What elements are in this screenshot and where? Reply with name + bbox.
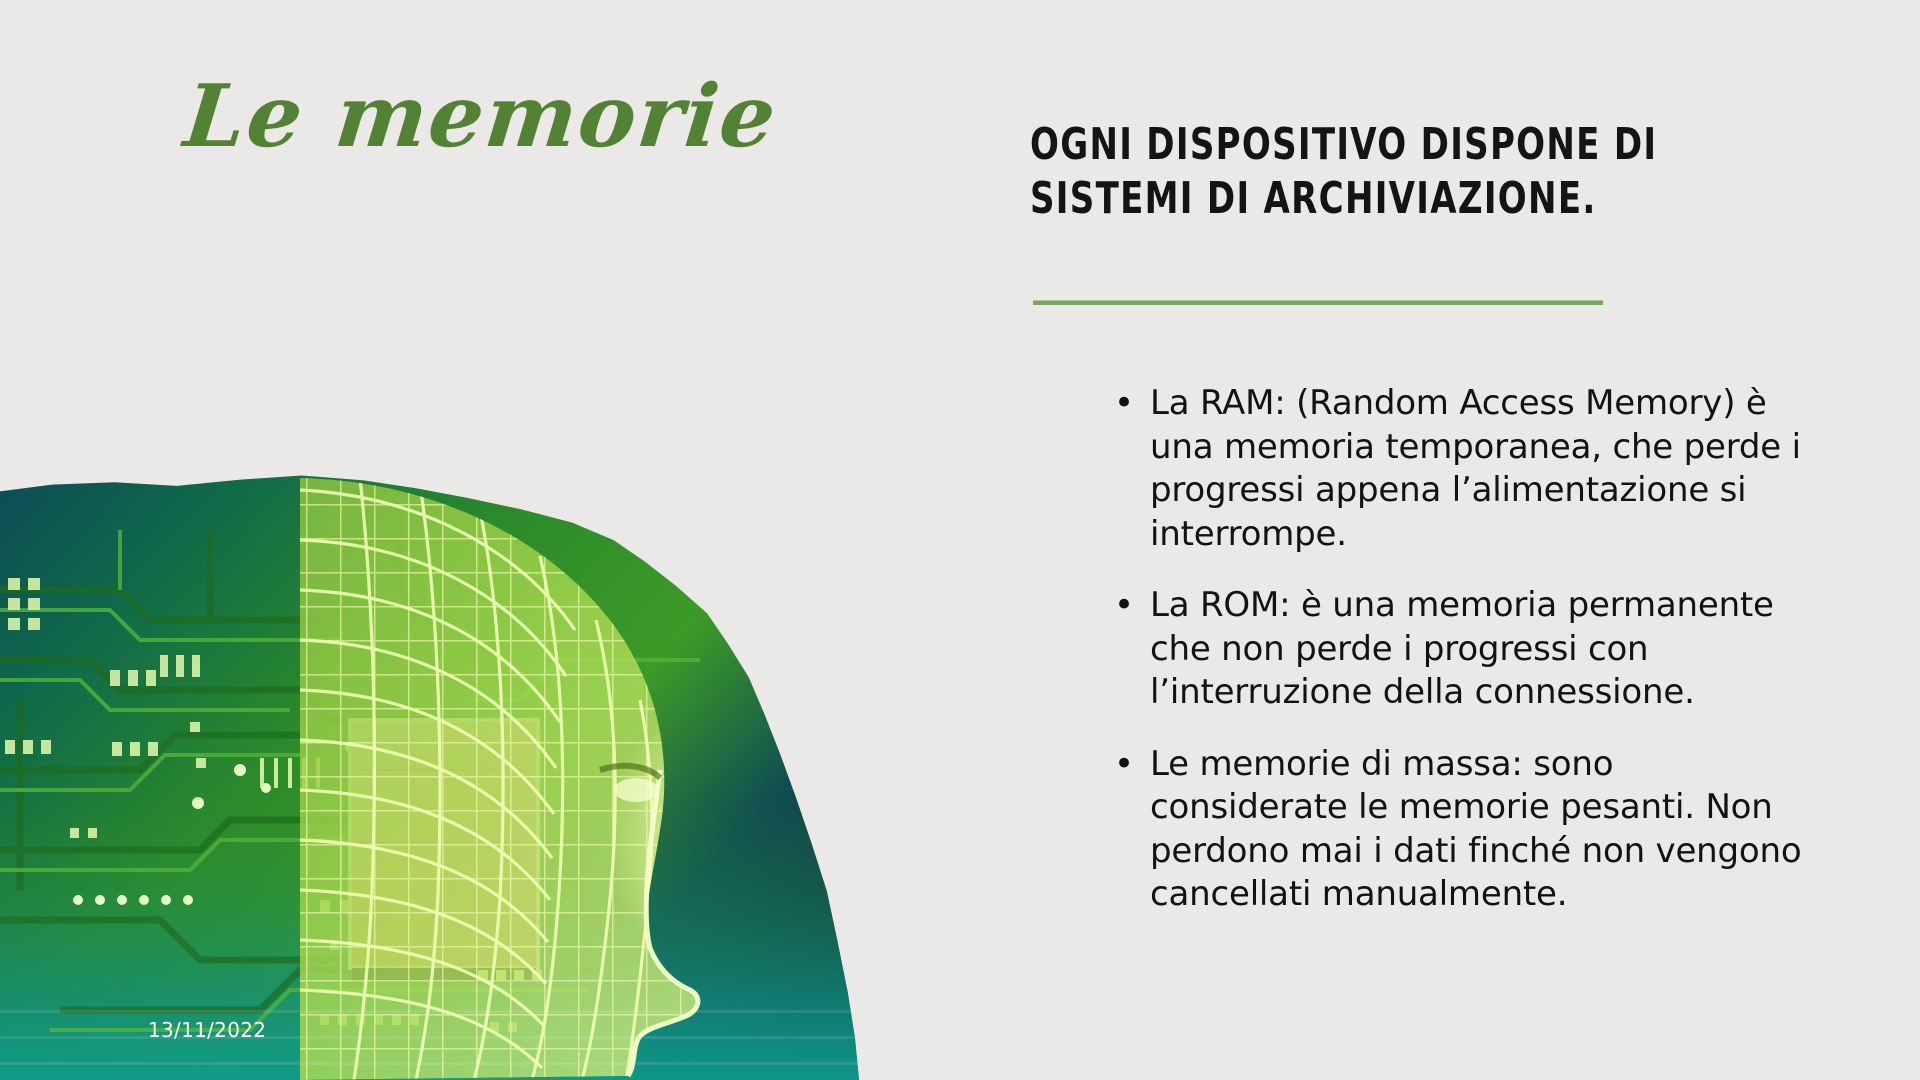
- slide-canvas: Le memorie: [0, 0, 1920, 1080]
- bullet-marker-icon: •: [1114, 382, 1134, 426]
- date-stamp: 13/11/2022: [148, 1018, 266, 1042]
- bullet-marker-icon: •: [1114, 584, 1134, 628]
- list-item-text: La ROM: è una memoria permanente che non…: [1150, 585, 1774, 712]
- divider-rule: [1033, 300, 1603, 305]
- list-item: • La ROM: è una memoria permanente che n…: [1108, 584, 1808, 715]
- content-column: Ogni dispositivo dispone di sistemi di a…: [1030, 118, 1730, 225]
- page-title: Le memorie: [180, 72, 829, 162]
- bullet-marker-icon: •: [1114, 743, 1134, 787]
- list-item: • Le memorie di massa: sono considerate …: [1108, 743, 1808, 917]
- list-item: • La RAM: (Random Access Memory) è una m…: [1108, 382, 1808, 556]
- subheading: Ogni dispositivo dispone di sistemi di a…: [1030, 118, 1728, 225]
- circuit-board-head-graphic: [0, 470, 1040, 1080]
- list-item-text: La RAM: (Random Access Memory) è una mem…: [1150, 383, 1801, 554]
- circuit-board-head-image: [0, 470, 1040, 1080]
- bullet-list: • La RAM: (Random Access Memory) è una m…: [1108, 382, 1808, 917]
- list-item-text: Le memorie di massa: sono considerate le…: [1150, 744, 1801, 915]
